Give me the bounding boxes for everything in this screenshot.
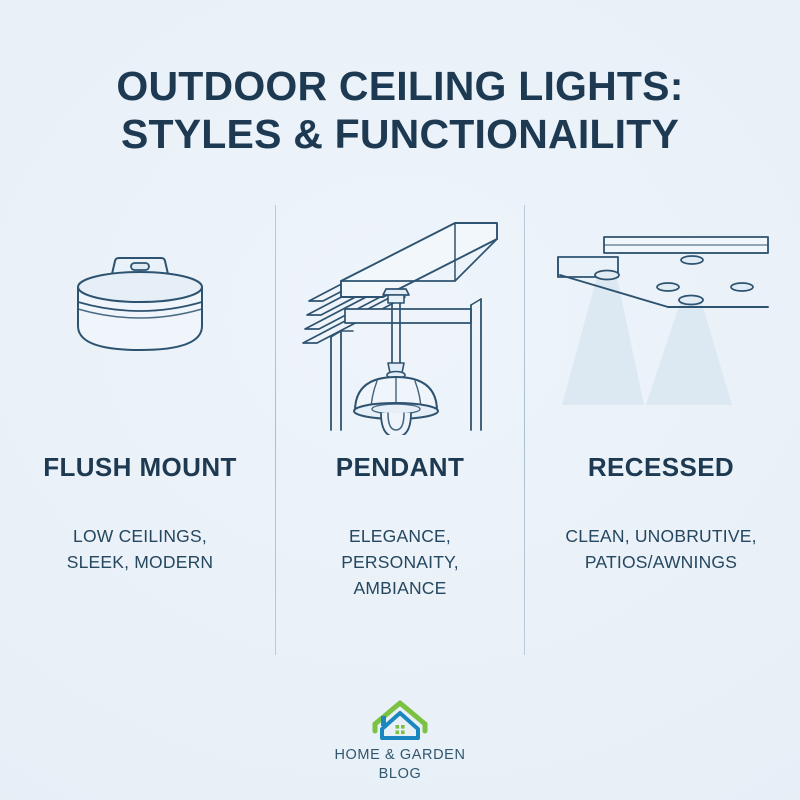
column-divider-right xyxy=(524,205,525,655)
pendant-light-pergola-illustration xyxy=(285,205,515,435)
recessed-illustration-wrap xyxy=(530,200,792,440)
recessed-soffit-lights-illustration xyxy=(546,215,776,425)
column-recessed: RECESSED CLEAN, UNOBRUTIVE, PATIOS/AWNIN… xyxy=(530,200,792,660)
description-line: AMBIANCE xyxy=(281,575,519,601)
description-line: PATIOS/AWNINGS xyxy=(530,549,792,575)
column-divider-left xyxy=(275,205,276,655)
page-title: OUTDOOR CEILING LIGHTS: STYLES & FUNCTIO… xyxy=(0,62,800,158)
house-logo-icon xyxy=(370,698,430,740)
description-line: CLEAN, UNOBRUTIVE, xyxy=(530,523,792,549)
column-pendant: PENDANT ELEGANCE, PERSONAITY, AMBIANCE xyxy=(281,200,519,660)
column-description-flush-mount: LOW CEILINGS, SLEEK, MODERN xyxy=(10,523,270,575)
column-heading-recessed: RECESSED xyxy=(530,452,792,483)
infographic-canvas: OUTDOOR CEILING LIGHTS: STYLES & FUNCTIO… xyxy=(0,0,800,800)
description-line: ELEGANCE, xyxy=(281,523,519,549)
column-description-pendant: ELEGANCE, PERSONAITY, AMBIANCE xyxy=(281,523,519,601)
light-cone-group xyxy=(562,273,732,405)
title-line-2: STYLES & FUNCTIONAILITY xyxy=(0,110,800,158)
description-line: PERSONAITY, xyxy=(281,549,519,575)
footer-branding: HOME & GARDEN BLOG xyxy=(0,698,800,784)
column-heading-pendant: PENDANT xyxy=(281,452,519,483)
flush-mount-illustration-wrap xyxy=(10,200,270,440)
flush-mount-ceiling-light-illustration xyxy=(45,230,235,410)
title-line-1: OUTDOOR CEILING LIGHTS: xyxy=(0,62,800,110)
pendant-illustration-wrap xyxy=(281,200,519,440)
column-heading-flush-mount: FLUSH MOUNT xyxy=(10,452,270,483)
description-line: LOW CEILINGS, xyxy=(10,523,270,549)
description-line: SLEEK, MODERN xyxy=(10,549,270,575)
footer-brand-line-2: BLOG xyxy=(0,765,800,784)
column-description-recessed: CLEAN, UNOBRUTIVE, PATIOS/AWNINGS xyxy=(530,523,792,575)
footer-brand-text: HOME & GARDEN BLOG xyxy=(0,746,800,784)
column-flush-mount: FLUSH MOUNT LOW CEILINGS, SLEEK, MODERN xyxy=(10,200,270,660)
footer-brand-line-1: HOME & GARDEN xyxy=(0,746,800,765)
